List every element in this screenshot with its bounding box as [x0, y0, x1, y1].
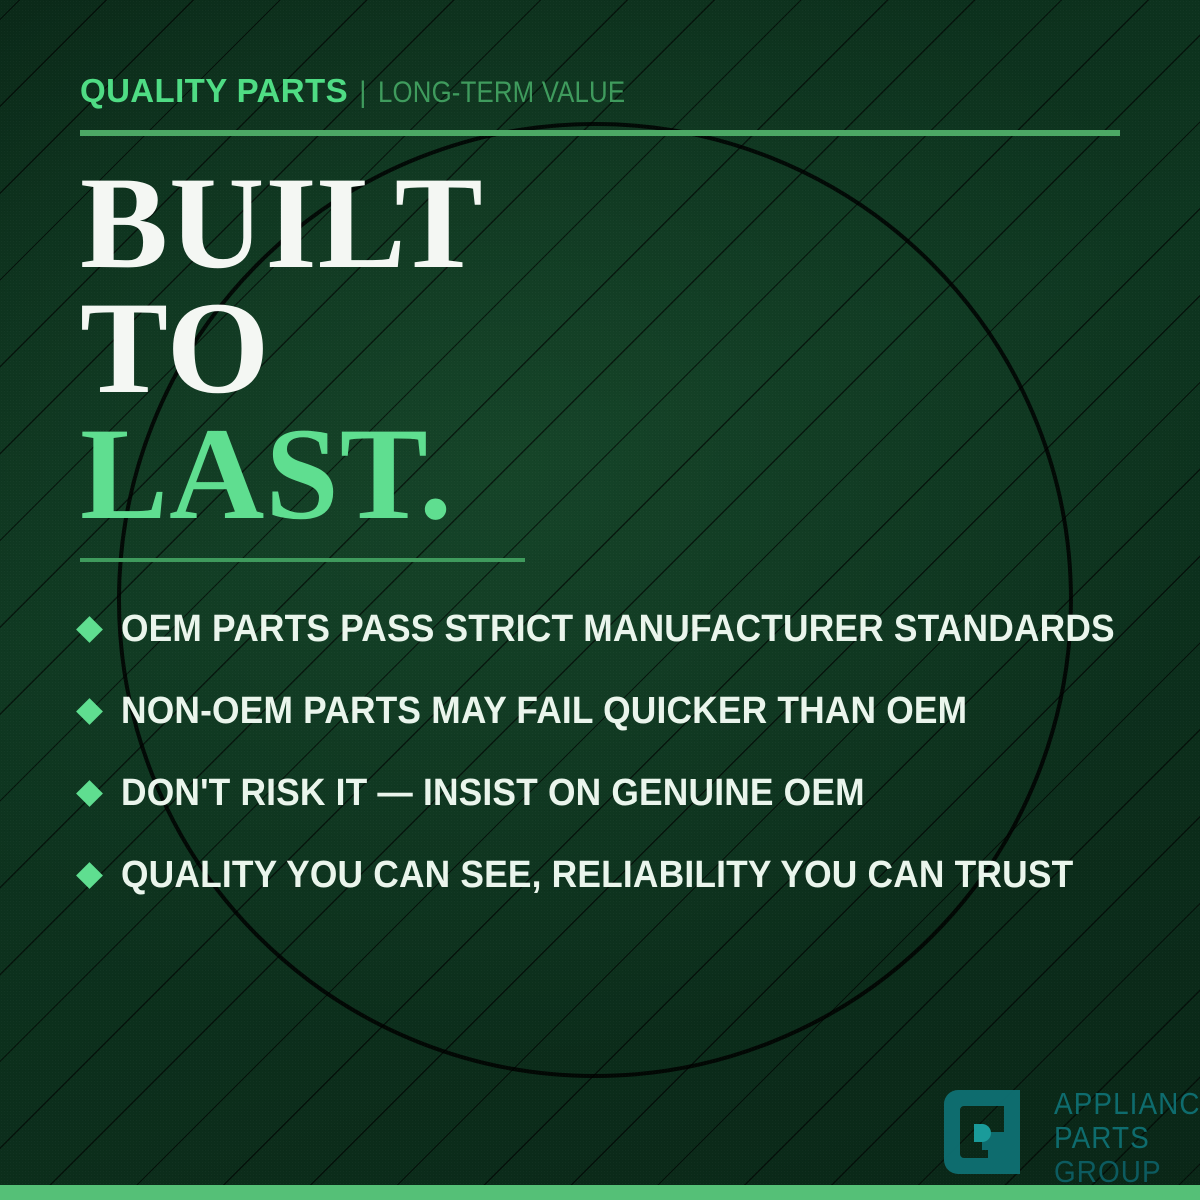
headline-divider	[80, 558, 525, 562]
diamond-bullet-icon	[76, 698, 103, 725]
list-item: QUALITY YOU CAN SEE, RELIABILITY YOU CAN…	[80, 834, 1150, 916]
diamond-bullet-icon	[76, 862, 103, 889]
diamond-bullet-icon	[76, 616, 103, 643]
eyebrow-separator: |	[359, 76, 366, 110]
benefits-list: OEM PARTS PASS STRICT MANUFACTURER STAND…	[80, 588, 1150, 916]
list-item: DON'T RISK IT — INSIST ON GENUINE OEM	[80, 752, 1150, 834]
eyebrow: QUALITY PARTS | LONG-TERM VALUE	[80, 72, 665, 110]
list-item-label: OEM PARTS PASS STRICT MANUFACTURER STAND…	[121, 608, 1115, 651]
eyebrow-main-label: QUALITY PARTS	[80, 72, 348, 110]
brand-line-2: PARTS	[1054, 1122, 1200, 1153]
brand-logo-wordmark: APPLIANCE PARTS GROUP	[1054, 1088, 1200, 1190]
brand-logo: APPLIANCE PARTS GROUP	[944, 1086, 1200, 1190]
headline-line-2: TO	[80, 285, 484, 410]
bottom-accent-bar	[0, 1185, 1200, 1200]
brand-line-3: GROUP	[1054, 1156, 1200, 1187]
list-item: OEM PARTS PASS STRICT MANUFACTURER STAND…	[80, 588, 1150, 670]
list-item-label: DON'T RISK IT — INSIST ON GENUINE OEM	[121, 772, 865, 815]
page-title: BUILT TO LAST.	[80, 160, 484, 536]
list-item-label: NON-OEM PARTS MAY FAIL QUICKER THAN OEM	[121, 690, 967, 733]
headline-line-1: BUILT	[80, 160, 484, 285]
list-item: NON-OEM PARTS MAY FAIL QUICKER THAN OEM	[80, 670, 1150, 752]
brand-line-1: APPLIANCE	[1054, 1088, 1200, 1119]
g-monogram-icon	[944, 1086, 1040, 1178]
diamond-bullet-icon	[76, 780, 103, 807]
poster-canvas: QUALITY PARTS | LONG-TERM VALUE BUILT TO…	[0, 0, 1200, 1200]
headline-line-3: LAST.	[80, 411, 484, 536]
list-item-label: QUALITY YOU CAN SEE, RELIABILITY YOU CAN…	[121, 854, 1073, 897]
eyebrow-sub-label: LONG-TERM VALUE	[378, 76, 625, 110]
poster-content: QUALITY PARTS | LONG-TERM VALUE BUILT TO…	[0, 0, 1200, 1200]
header-rule	[80, 130, 1120, 136]
